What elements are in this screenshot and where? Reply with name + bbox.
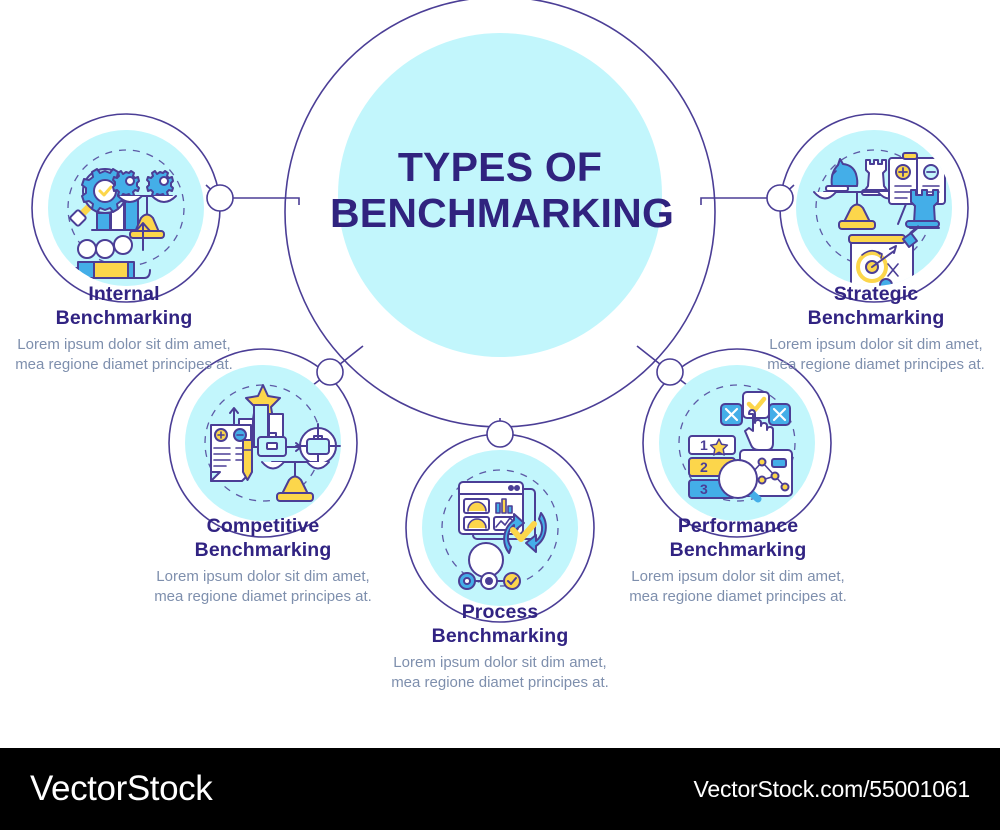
svg-text:2: 2 (700, 459, 708, 475)
label-internal-title-line2: Benchmarking (8, 306, 240, 330)
svg-text:1: 1 (700, 437, 708, 453)
label-internal-benchmarking: Internal Benchmarking Lorem ipsum dolor … (8, 282, 240, 375)
label-performance-title: Performance Benchmarking (622, 514, 854, 563)
label-process-title: Process Benchmarking (384, 600, 616, 649)
label-performance-description: Lorem ipsum dolor sit dim amet, mea regi… (622, 567, 854, 607)
label-competitive-title-line1: Competitive (147, 514, 379, 538)
label-performance-title-line1: Performance (622, 514, 854, 538)
document-pencil-icon (211, 425, 252, 481)
label-process-title-line1: Process (384, 600, 616, 624)
label-strategic-title: Strategic Benchmarking (760, 282, 992, 331)
label-internal-description: Lorem ipsum dolor sit dim amet, mea regi… (8, 335, 240, 375)
label-strategic-title-line2: Benchmarking (760, 306, 992, 330)
label-internal-title-line1: Internal (8, 282, 240, 306)
vectorstock-logo: VectorStock (30, 769, 212, 809)
label-performance-benchmarking: Performance Benchmarking Lorem ipsum dol… (622, 514, 854, 607)
node-dot-competitive (317, 359, 343, 385)
label-performance-title-line2: Benchmarking (622, 538, 854, 562)
label-competitive-description: Lorem ipsum dolor sit dim amet, mea regi… (147, 567, 379, 607)
vectorstock-url: VectorStock.com/55001061 (694, 776, 971, 803)
label-competitive-benchmarking: Competitive Benchmarking Lorem ipsum dol… (147, 514, 379, 607)
infographic-page: 1 2 3 (0, 0, 1000, 830)
node-dot-strategic (767, 185, 793, 211)
label-competitive-title-line2: Benchmarking (147, 538, 379, 562)
label-strategic-benchmarking: Strategic Benchmarking Lorem ipsum dolor… (760, 282, 992, 375)
label-process-benchmarking: Process Benchmarking Lorem ipsum dolor s… (384, 600, 616, 693)
node-dot-process (487, 421, 513, 447)
node-dot-internal (207, 185, 233, 211)
process-steps-icon (459, 573, 520, 589)
label-process-title-line2: Benchmarking (384, 624, 616, 648)
center-disc (338, 33, 662, 357)
watermark-footer: VectorStock VectorStock.com/55001061 (0, 748, 1000, 830)
infographic-canvas: 1 2 3 (0, 0, 1000, 748)
label-strategic-title-line1: Strategic (760, 282, 992, 306)
node-dot-performance (657, 359, 683, 385)
label-strategic-description: Lorem ipsum dolor sit dim amet, mea regi… (760, 335, 992, 375)
label-internal-title: Internal Benchmarking (8, 282, 240, 331)
svg-text:3: 3 (700, 481, 708, 497)
label-process-description: Lorem ipsum dolor sit dim amet, mea regi… (384, 653, 616, 693)
label-competitive-title: Competitive Benchmarking (147, 514, 379, 563)
